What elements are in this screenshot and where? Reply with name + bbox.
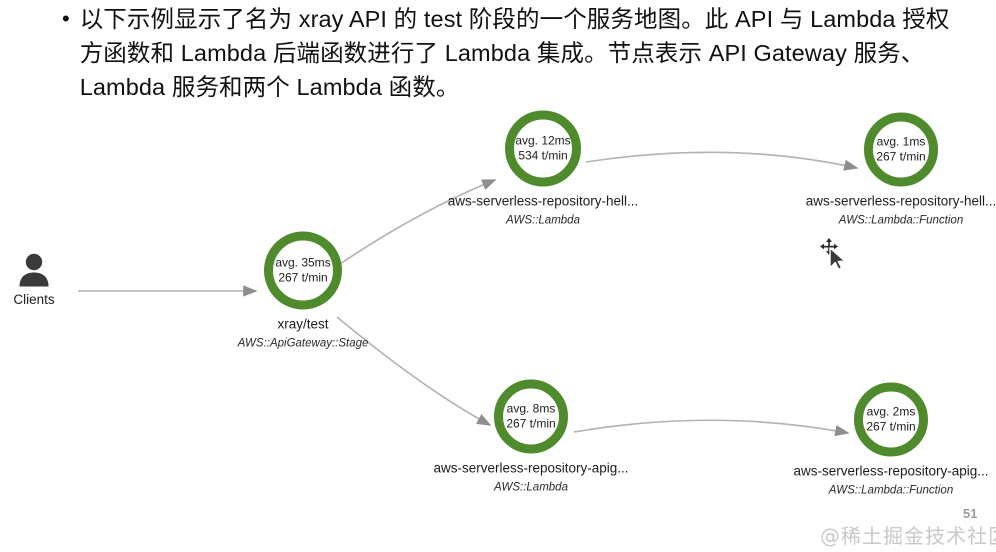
node-throughput: 267 t/min: [506, 417, 555, 432]
service-node-lambda-service-hello[interactable]: avg. 12ms 534 t/min aws-serverless-repos…: [428, 111, 658, 228]
service-node-lambda-function-hello[interactable]: avg. 1ms 267 t/min aws-serverless-reposi…: [786, 113, 996, 228]
bullet-dot-icon: •: [62, 2, 70, 36]
node-throughput: 534 t/min: [518, 149, 567, 164]
page-number: 51: [963, 506, 977, 521]
node-avg-latency: avg. 1ms: [877, 135, 926, 150]
service-node-xray-test[interactable]: avg. 35ms 267 t/min xray/test AWS::ApiGa…: [188, 232, 418, 351]
node-avg-latency: avg. 35ms: [275, 256, 330, 271]
node-ring-lambda-service-apig[interactable]: avg. 8ms 267 t/min: [494, 380, 568, 454]
node-type-label: AWS::Lambda::Function: [839, 214, 963, 228]
bullet-row: • 以下示例显示了名为 xray API 的 test 阶段的一个服务地图。此 …: [62, 2, 962, 104]
node-avg-latency: avg. 8ms: [507, 402, 556, 417]
person-icon: [14, 250, 54, 290]
node-type-label: AWS::Lambda: [494, 481, 568, 495]
node-type-label: AWS::ApiGateway::Stage: [238, 337, 369, 351]
node-ring-lambda-service-hello[interactable]: avg. 12ms 534 t/min: [505, 111, 581, 187]
node-throughput: 267 t/min: [278, 271, 327, 286]
node-type-label: AWS::Lambda::Function: [829, 484, 953, 498]
node-avg-latency: avg. 2ms: [867, 405, 916, 420]
node-name-label: aws-serverless-repository-apig...: [793, 464, 988, 480]
node-throughput: 267 t/min: [866, 420, 915, 435]
node-type-label: AWS::Lambda: [506, 214, 580, 228]
caption-block: • 以下示例显示了名为 xray API 的 test 阶段的一个服务地图。此 …: [62, 2, 962, 104]
client-node[interactable]: Clients: [8, 250, 60, 307]
node-name-label: aws-serverless-repository-hell...: [448, 194, 639, 210]
node-ring-lambda-function-hello[interactable]: avg. 1ms 267 t/min: [864, 113, 938, 187]
service-node-lambda-function-apig[interactable]: avg. 2ms 267 t/min aws-serverless-reposi…: [776, 383, 996, 498]
node-avg-latency: avg. 12ms: [515, 134, 570, 149]
node-name-label: xray/test: [277, 317, 328, 333]
caption-text: 以下示例显示了名为 xray API 的 test 阶段的一个服务地图。此 AP…: [80, 2, 962, 104]
node-throughput: 267 t/min: [876, 150, 925, 165]
node-name-label: aws-serverless-repository-hell...: [806, 194, 996, 210]
client-label: Clients: [8, 292, 60, 307]
node-name-label: aws-serverless-repository-apig...: [433, 461, 628, 477]
watermark-text: @稀土掘金技术社区: [820, 520, 996, 549]
node-ring-lambda-function-apig[interactable]: avg. 2ms 267 t/min: [854, 383, 928, 457]
service-map-canvas[interactable]: Clients avg. 35ms 267 t/min xray/test AW…: [0, 100, 996, 552]
node-ring-xray-test[interactable]: avg. 35ms 267 t/min: [264, 232, 342, 310]
service-node-lambda-service-apig[interactable]: avg. 8ms 267 t/min aws-serverless-reposi…: [416, 380, 646, 495]
